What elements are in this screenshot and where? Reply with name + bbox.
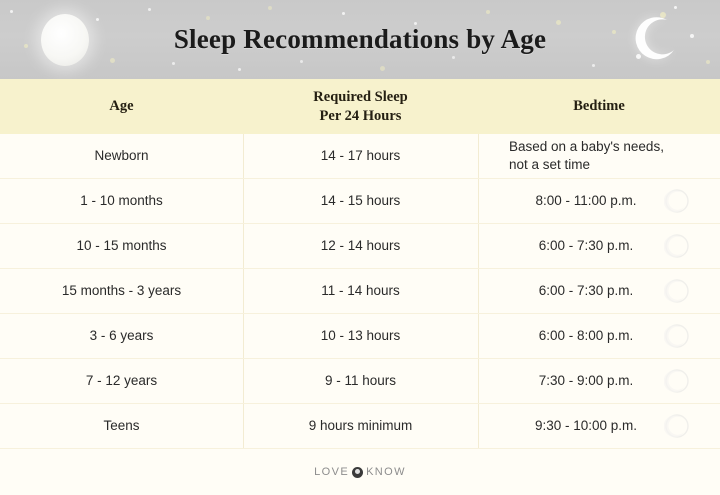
cell-bedtime: Based on a baby's needs, not a set time [478,134,720,178]
column-header-required-sleep-line2: Per 24 Hours [313,107,407,125]
table-row: 1 - 10 months 14 - 15 hours 8:00 - 11:00… [0,179,720,224]
column-header-bedtime: Bedtime [478,79,720,134]
cell-age: 3 - 6 years [0,314,243,358]
sleep-recommendations-infographic: Sleep Recommendations by Age Age Require… [0,0,720,481]
cell-bedtime: 8:00 - 11:00 p.m. [478,179,720,223]
lovetoknow-logo[interactable]: LOVE KNOW [314,466,406,478]
table-row: 3 - 6 years 10 - 13 hours 6:00 - 8:00 p.… [0,314,720,359]
cell-age: 10 - 15 months [0,224,243,268]
cell-required-sleep: 12 - 14 hours [243,224,478,268]
header-band: Sleep Recommendations by Age [0,0,720,79]
cell-bedtime-line1: 7:30 - 9:00 p.m. [539,372,634,390]
moon-watermark-icon [664,323,690,349]
cell-age: Newborn [0,134,243,178]
table-row: 7 - 12 years 9 - 11 hours 7:30 - 9:00 p.… [0,359,720,404]
column-header-age: Age [0,79,243,134]
cell-bedtime: 9:30 - 10:00 p.m. [478,404,720,448]
column-header-bedtime-label: Bedtime [573,97,625,115]
moon-watermark-icon [664,233,690,259]
lovetoknow-dot-icon [352,467,363,478]
cell-bedtime-line1: 8:00 - 11:00 p.m. [535,192,636,210]
page-title: Sleep Recommendations by Age [0,0,720,79]
moon-watermark-icon [664,368,690,394]
cell-required-sleep: 9 - 11 hours [243,359,478,403]
moon-watermark-icon [664,188,690,214]
cell-bedtime: 6:00 - 7:30 p.m. [478,224,720,268]
cell-bedtime-line2: not a set time [509,156,664,174]
cell-bedtime-line1: 6:00 - 7:30 p.m. [539,282,634,300]
column-header-required-sleep: Required Sleep Per 24 Hours [243,79,478,134]
cell-age: 7 - 12 years [0,359,243,403]
table-header-row: Age Required Sleep Per 24 Hours Bedtime [0,79,720,134]
sleep-table: Age Required Sleep Per 24 Hours Bedtime … [0,79,720,449]
table-row: 15 months - 3 years 11 - 14 hours 6:00 -… [0,269,720,314]
cell-bedtime: 7:30 - 9:00 p.m. [478,359,720,403]
cell-bedtime: 6:00 - 8:00 p.m. [478,314,720,358]
footer: LOVE KNOW [0,449,720,495]
moon-watermark-icon [664,278,690,304]
table-row: 10 - 15 months 12 - 14 hours 6:00 - 7:30… [0,224,720,269]
logo-text-left: LOVE [314,466,349,478]
cell-required-sleep: 14 - 15 hours [243,179,478,223]
table-row: Newborn 14 - 17 hours Based on a baby's … [0,134,720,179]
cell-bedtime-line1: 6:00 - 7:30 p.m. [539,237,634,255]
cell-bedtime-line1: Based on a baby's needs, [509,138,664,156]
logo-text-right: KNOW [366,466,406,478]
cell-age: Teens [0,404,243,448]
cell-bedtime-line1: 6:00 - 8:00 p.m. [539,327,634,345]
cell-required-sleep: 14 - 17 hours [243,134,478,178]
moon-watermark-icon [664,413,690,439]
cell-required-sleep: 10 - 13 hours [243,314,478,358]
cell-required-sleep: 11 - 14 hours [243,269,478,313]
column-header-age-label: Age [109,97,133,115]
cell-bedtime: 6:00 - 7:30 p.m. [478,269,720,313]
cell-bedtime-line1: 9:30 - 10:00 p.m. [535,417,637,435]
cell-age: 1 - 10 months [0,179,243,223]
column-header-required-sleep-line1: Required Sleep [313,88,407,106]
cell-age: 15 months - 3 years [0,269,243,313]
cell-required-sleep: 9 hours minimum [243,404,478,448]
table-row: Teens 9 hours minimum 9:30 - 10:00 p.m. [0,404,720,449]
